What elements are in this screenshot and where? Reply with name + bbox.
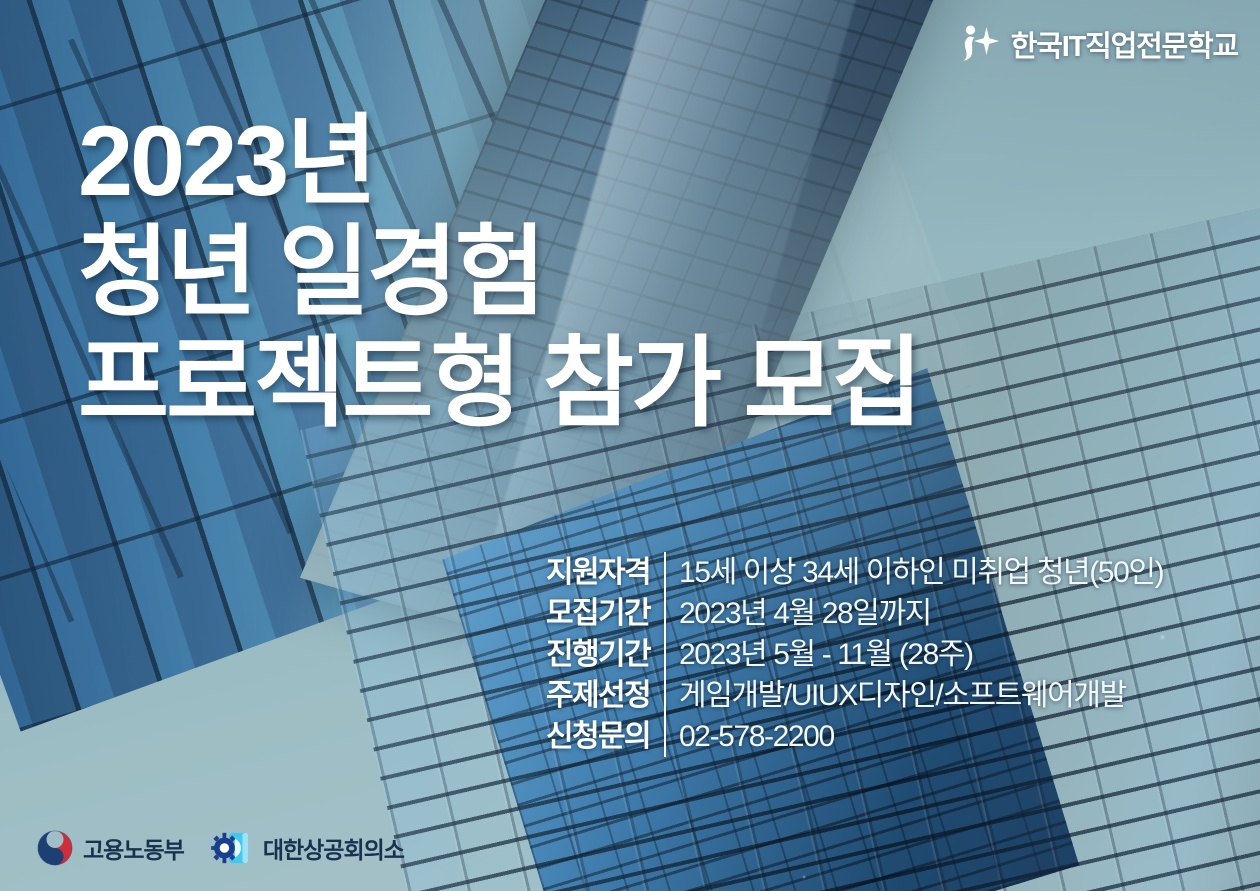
partner-logos: 고용노동부 (36, 829, 404, 867)
partner-name: 대한상공회의소 (263, 831, 404, 865)
info-value: 게임개발/UIUX디자인/소프트웨어개발 (665, 675, 1163, 716)
poster-content: 한국IT직업전문학교 2023년 청년 일경험 프로젝트형 참가 모집 지원자격… (0, 0, 1260, 891)
brand-lockup: 한국IT직업전문학교 (957, 22, 1238, 66)
partner-kcci: 대한상공회의소 (210, 830, 404, 866)
taegeuk-icon (36, 829, 74, 867)
page-title: 2023년 청년 일경험 프로젝트형 참가 모집 (78, 112, 920, 431)
brand-name: 한국IT직업전문학교 (1011, 23, 1238, 65)
promotional-poster: 한국IT직업전문학교 2023년 청년 일경험 프로젝트형 참가 모집 지원자격… (0, 0, 1260, 891)
info-value: 2023년 5월 - 11월 (28주) (665, 634, 1163, 675)
headline-line-3: 프로젝트형 참가 모집 (78, 334, 920, 431)
info-label: 주제선정 (528, 675, 664, 716)
info-label: 진행기간 (528, 634, 664, 675)
partner-name: 고용노동부 (83, 831, 184, 865)
partner-molab: 고용노동부 (36, 829, 184, 867)
info-value: 2023년 4월 28일까지 (665, 593, 1163, 634)
headline-line-1: 2023년 (78, 112, 920, 209)
info-label: 신청문의 (528, 716, 664, 757)
kcci-gear-icon (210, 830, 254, 866)
info-value: 15세 이상 34세 이하인 미취업 청년(50인) (665, 552, 1163, 593)
info-label: 지원자격 (528, 552, 664, 593)
person-star-logo-icon (957, 22, 1001, 66)
info-label: 모집기간 (528, 593, 664, 634)
info-value: 02-578-2200 (665, 716, 1163, 757)
info-table: 지원자격 15세 이상 34세 이하인 미취업 청년(50인) 모집기간 202… (528, 552, 1163, 757)
headline-line-2: 청년 일경험 (78, 223, 920, 320)
